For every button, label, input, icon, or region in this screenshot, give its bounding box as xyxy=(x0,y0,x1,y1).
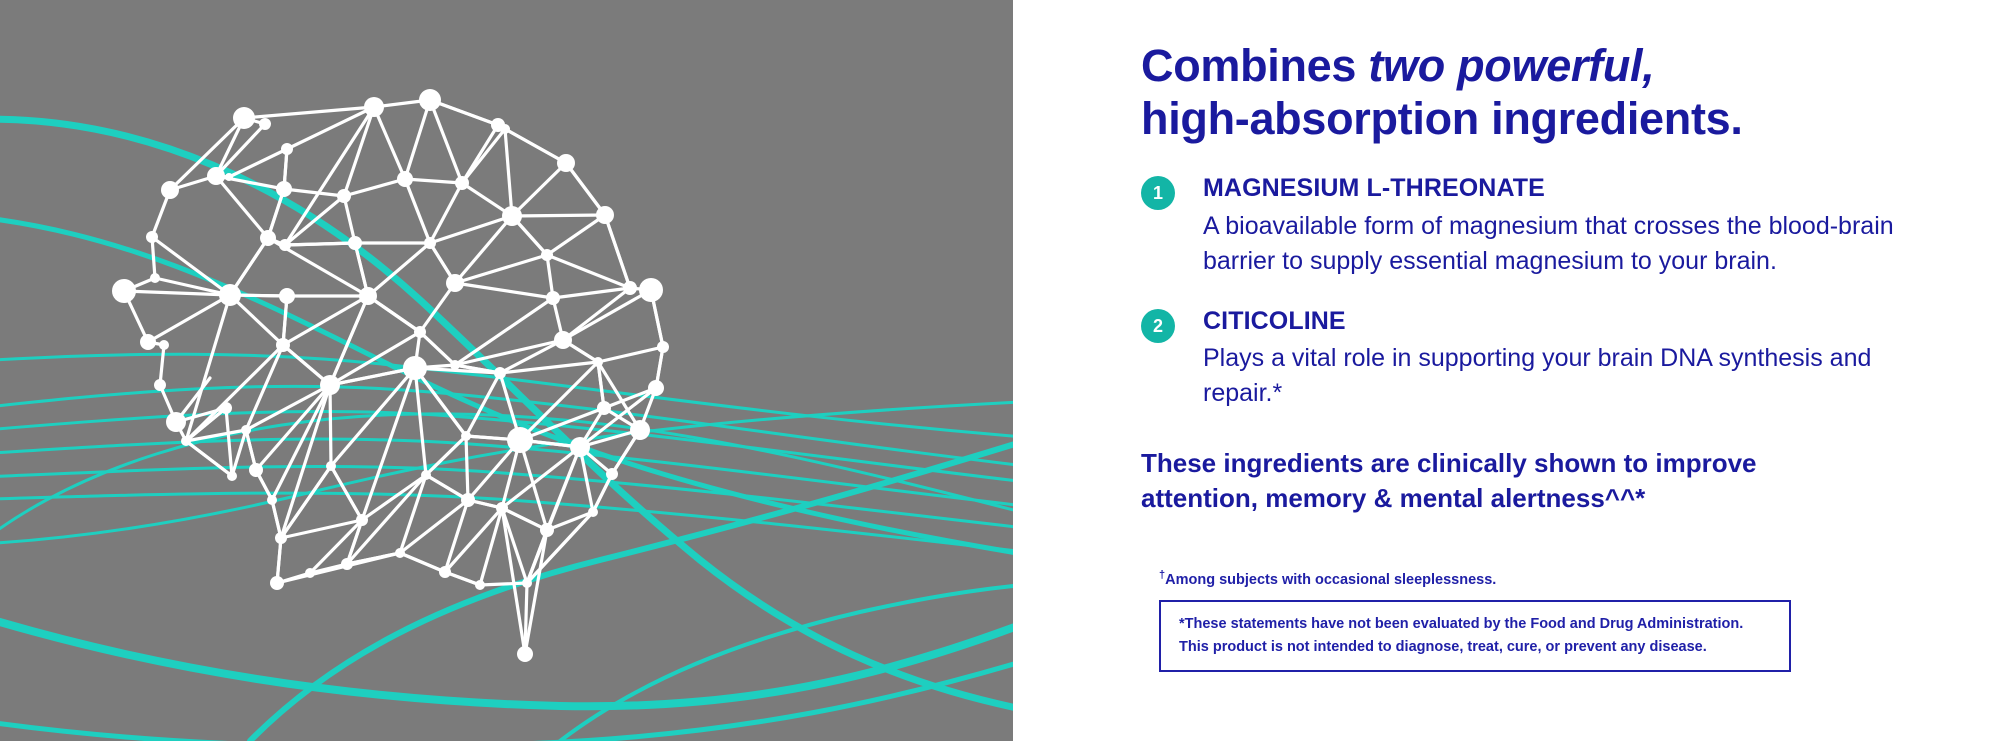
footnote-dagger: †Among subjects with occasional sleeples… xyxy=(1159,568,1940,590)
ingredient-item-magnesium: 1 MAGNESIUM L-THREONATE A bioavailable f… xyxy=(1141,173,1940,279)
ingredient-name-2: CITICOLINE xyxy=(1203,306,1940,337)
content-panel: Combines two powerful, high-absorption i… xyxy=(1013,0,2000,741)
fda-disclaimer-line-1: *These statements have not been evaluate… xyxy=(1179,613,1771,636)
fda-disclaimer-line-2: This product is not intended to diagnose… xyxy=(1179,636,1771,659)
ingredient-description-2: Plays a vital role in supporting your br… xyxy=(1203,341,1940,412)
network-edge-group xyxy=(124,100,663,654)
headline-plain: Combines xyxy=(1141,40,1368,91)
ingredient-number-badge-2: 2 xyxy=(1141,309,1175,343)
page-root: Combines two powerful, high-absorption i… xyxy=(0,0,2000,741)
ingredient-number-badge-1: 1 xyxy=(1141,176,1175,210)
ingredient-name-1: MAGNESIUM L-THREONATE xyxy=(1203,173,1940,204)
fda-disclaimer-box: *These statements have not been evaluate… xyxy=(1159,600,1791,673)
ingredient-item-citicoline: 2 CITICOLINE Plays a vital role in suppo… xyxy=(1141,306,1940,412)
headline-line-1: Combines two powerful, xyxy=(1141,40,1654,91)
headline-emphasis: two powerful, xyxy=(1368,40,1654,91)
headline-line-2: high-absorption ingredients. xyxy=(1141,93,1743,144)
ingredient-description-1: A bioavailable form of magnesium that cr… xyxy=(1203,209,1940,280)
brain-network-illustration xyxy=(0,0,1013,741)
clinical-claim-statement: These ingredients are clinically shown t… xyxy=(1141,446,1861,516)
page-title: Combines two powerful, high-absorption i… xyxy=(1141,40,1940,145)
ingredient-list: 1 MAGNESIUM L-THREONATE A bioavailable f… xyxy=(1141,173,1940,412)
dagger-footnote-text: Among subjects with occasional sleepless… xyxy=(1165,572,1496,588)
